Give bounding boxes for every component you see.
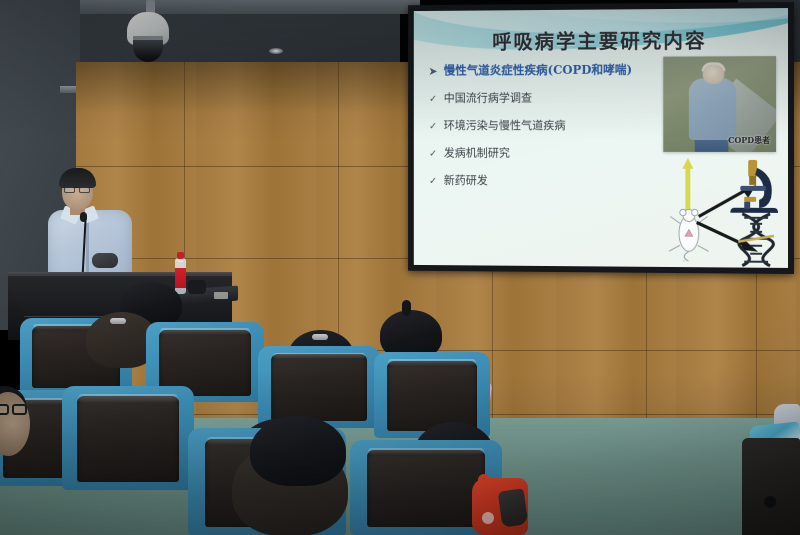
lecture-hall-photo: 呼吸病学主要研究内容 ➤ 慢性气道炎症性疾病(COPD和哮喘) ✓ 中国流行病学… [0, 0, 800, 535]
audience-head [250, 416, 346, 486]
slide-bullet-item: ✓ 发病机制研究 [429, 145, 671, 161]
microscope-icon [722, 156, 784, 218]
water-bottle-label [175, 268, 186, 288]
backpack-logo [482, 512, 494, 524]
eyeglass-lens-left [0, 404, 9, 415]
slide-bullet-text: 新药研发 [444, 172, 488, 188]
eyeglass-lens-right [79, 187, 90, 193]
presentation-slide: 呼吸病学主要研究内容 ➤ 慢性气道炎症性疾病(COPD和哮喘) ✓ 中国流行病学… [414, 8, 788, 268]
ponytail [402, 300, 411, 316]
hair-clip [312, 334, 328, 340]
photo-head [703, 64, 725, 84]
slide-bullet-text: 发病机制研究 [444, 145, 510, 161]
presenter-hands [92, 253, 118, 268]
wall-light-reflection [269, 48, 283, 54]
podium-dark-object [188, 280, 206, 294]
slide-bullet-text: 中国流行病学调查 [444, 90, 532, 106]
arrow-bullet-icon: ➤ [429, 67, 437, 78]
slide-bullet-item: ✓ 环境污染与慢性气道疾病 [429, 117, 671, 133]
slide-bullet-item: ✓ 新药研发 [429, 172, 671, 188]
slide-title: 呼吸病学主要研究内容 [414, 24, 788, 55]
dna-double-helix-icon [734, 212, 778, 268]
slide-bullet-item: ✓ 中国流行病学调查 [429, 89, 671, 105]
photo-caption: COPD患者 [728, 135, 770, 146]
seat[interactable] [258, 346, 380, 428]
photo-denim-jacket [689, 78, 736, 140]
slide-bullet-text: 慢性气道炎症性疾病(COPD和哮喘) [444, 61, 632, 79]
water-bottle-cap [177, 252, 184, 259]
check-bullet-icon: ✓ [429, 121, 437, 132]
seat[interactable] [742, 438, 800, 535]
eyeglass-lens-left [64, 187, 75, 193]
copd-patient-photo: COPD患者 [663, 56, 776, 152]
backpack-flap [498, 488, 529, 527]
seat[interactable] [62, 386, 194, 490]
slide-bullet-list: ➤ 慢性气道炎症性疾病(COPD和哮喘) ✓ 中国流行病学调查 ✓ 环境污染与慢… [429, 61, 671, 201]
check-bullet-icon: ✓ [429, 149, 437, 160]
shelf-label [214, 292, 228, 299]
slide-bullet-text: 环境污染与慢性气道疾病 [444, 117, 566, 133]
microphone-icon [80, 212, 87, 222]
check-bullet-icon: ✓ [429, 176, 437, 187]
eyeglass-lens-right [12, 404, 27, 415]
slide-bullet-item: ➤ 慢性气道炎症性疾病(COPD和哮喘) [429, 61, 671, 79]
check-bullet-icon: ✓ [429, 94, 437, 105]
projection-screen: 呼吸病学主要研究内容 ➤ 慢性气道炎症性疾病(COPD和哮喘) ✓ 中国流行病学… [408, 2, 794, 274]
hair-clip [110, 318, 126, 324]
seat-hardware [764, 496, 776, 508]
